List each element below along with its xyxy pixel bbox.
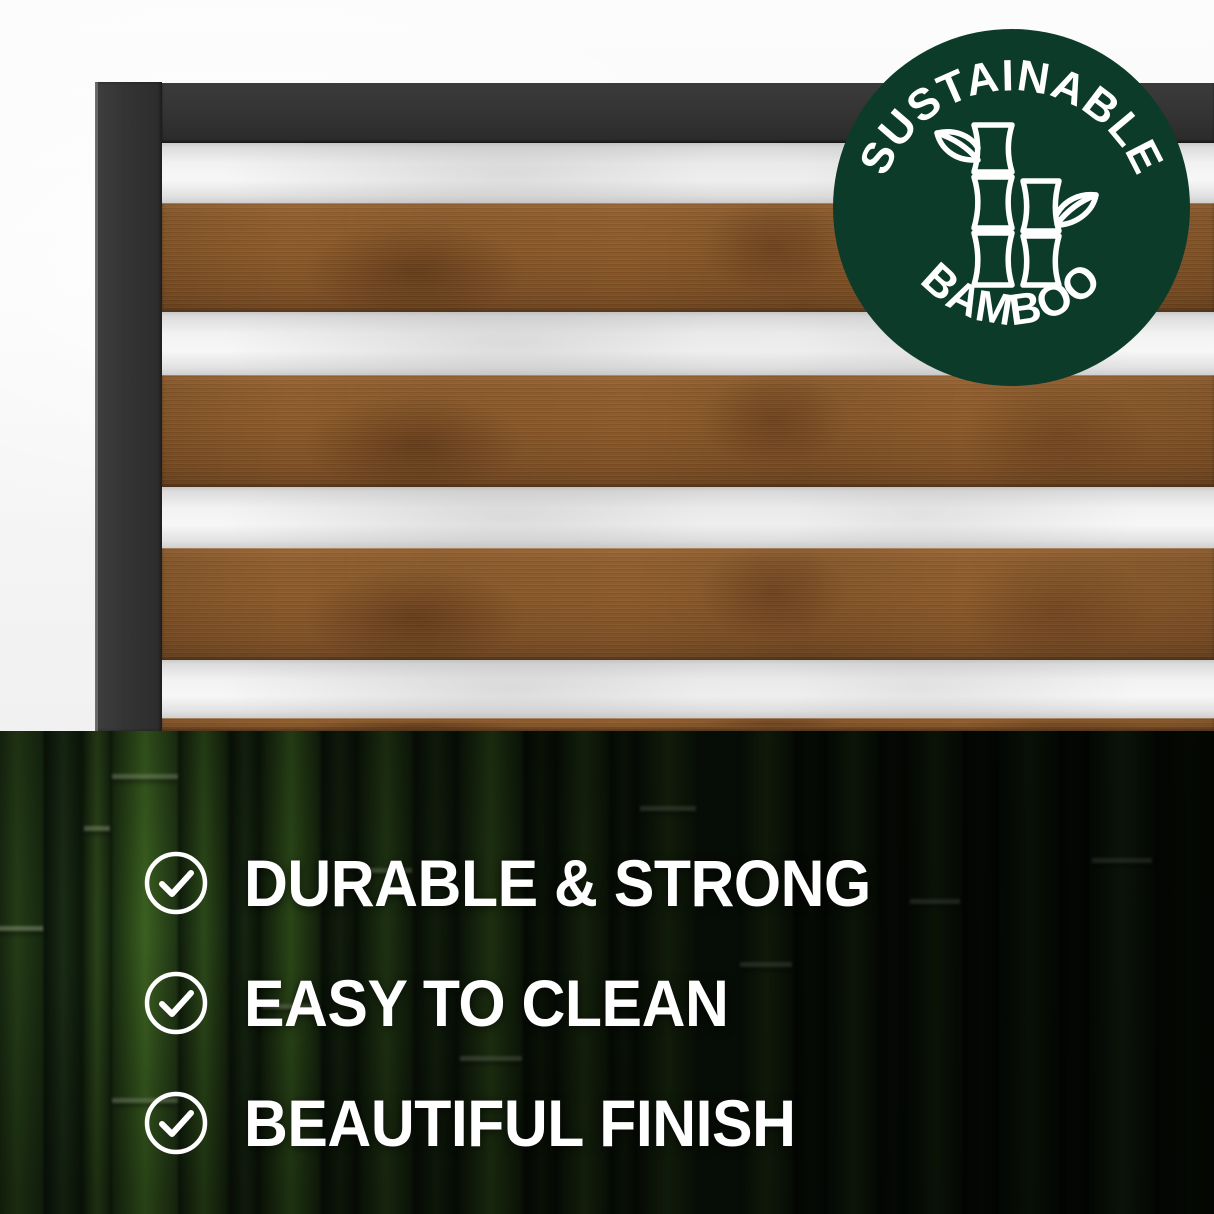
wood-slat <box>162 548 1214 660</box>
check-circle-icon <box>144 851 208 915</box>
slat-gap <box>162 487 1214 548</box>
list-item: DURABLE & STRONG <box>144 823 1144 943</box>
feature-label: DURABLE & STRONG <box>244 850 871 916</box>
list-item: EASY TO CLEAN <box>144 943 1144 1063</box>
wood-slat <box>162 375 1214 487</box>
feature-list: DURABLE & STRONG EASY TO CLEAN <box>144 823 1144 1183</box>
feature-label: EASY TO CLEAN <box>244 970 728 1036</box>
wood-slat <box>162 718 1214 731</box>
check-circle-icon <box>144 1091 208 1155</box>
product-feature-image: SUSTAINABLE BAMBOO <box>0 0 1214 1214</box>
product-photo: SUSTAINABLE BAMBOO <box>0 0 1214 731</box>
sustainable-bamboo-badge: SUSTAINABLE BAMBOO <box>833 29 1190 386</box>
feature-label: BEAUTIFUL FINISH <box>244 1090 795 1156</box>
frame-left-post <box>95 82 162 731</box>
list-item: BEAUTIFUL FINISH <box>144 1063 1144 1183</box>
slat-gap <box>162 660 1214 718</box>
check-circle-icon <box>144 971 208 1035</box>
frame-left-post-highlight <box>95 82 98 731</box>
bamboo-forest-photo: DURABLE & STRONG EASY TO CLEAN <box>0 731 1214 1214</box>
